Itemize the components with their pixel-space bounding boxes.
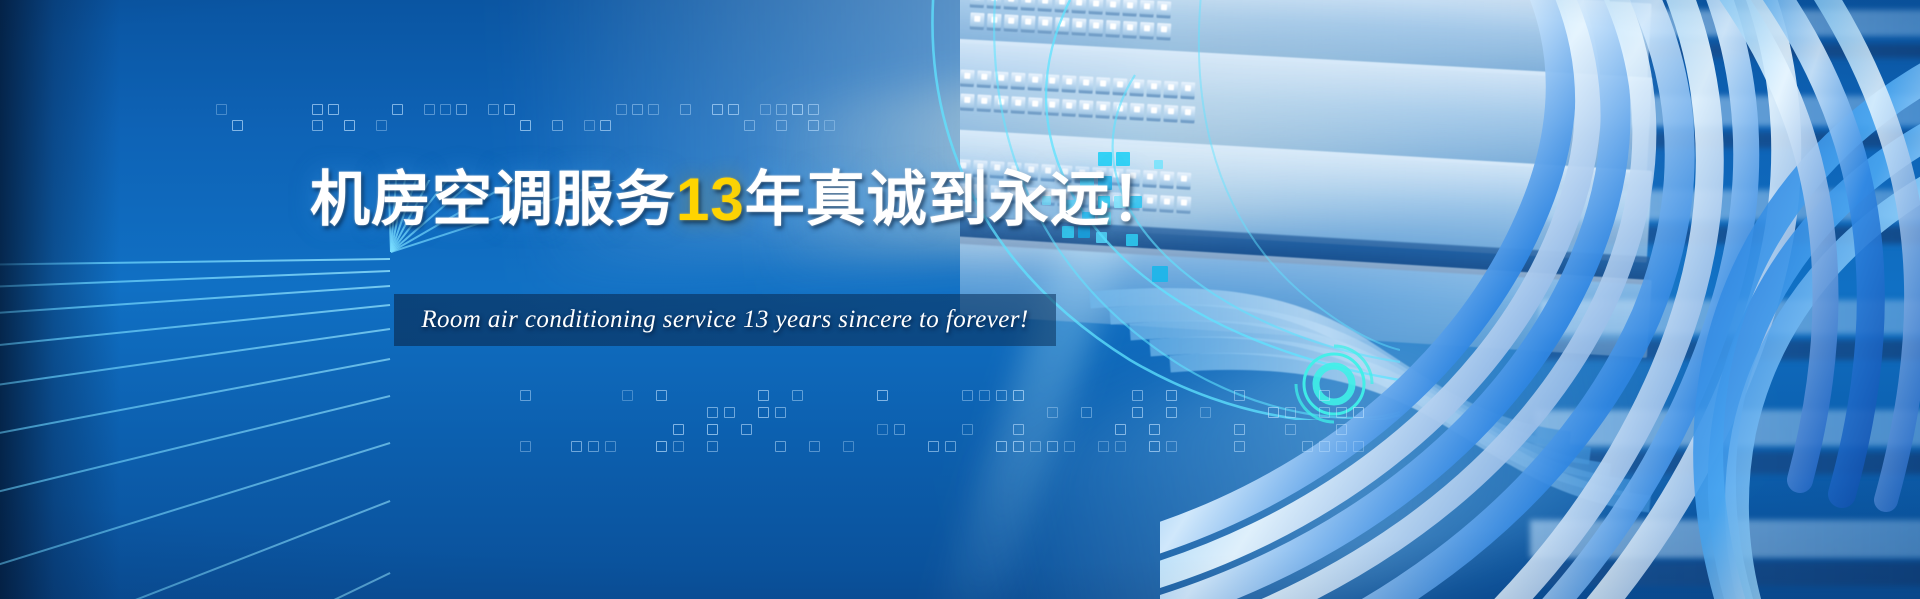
mosaic-pixel [1096, 232, 1107, 243]
headline-suffix: 年真诚到永远！ [745, 166, 1172, 233]
hero-banner: 机房空调服务13年真诚到永远！ Room air conditioning se… [0, 0, 1920, 599]
headline-accent-years: 13 [676, 166, 745, 233]
mosaic-pixel [1152, 266, 1168, 282]
mosaic-pixel [1126, 234, 1138, 246]
mosaic-pixel [1116, 152, 1130, 166]
headline-prefix: 机房空调服务 [310, 166, 676, 233]
page-subtitle: Room air conditioning service 13 years s… [394, 294, 1056, 346]
page-title: 机房空调服务13年真诚到永远！ [310, 170, 1172, 230]
mosaic-pixel [1098, 152, 1112, 166]
